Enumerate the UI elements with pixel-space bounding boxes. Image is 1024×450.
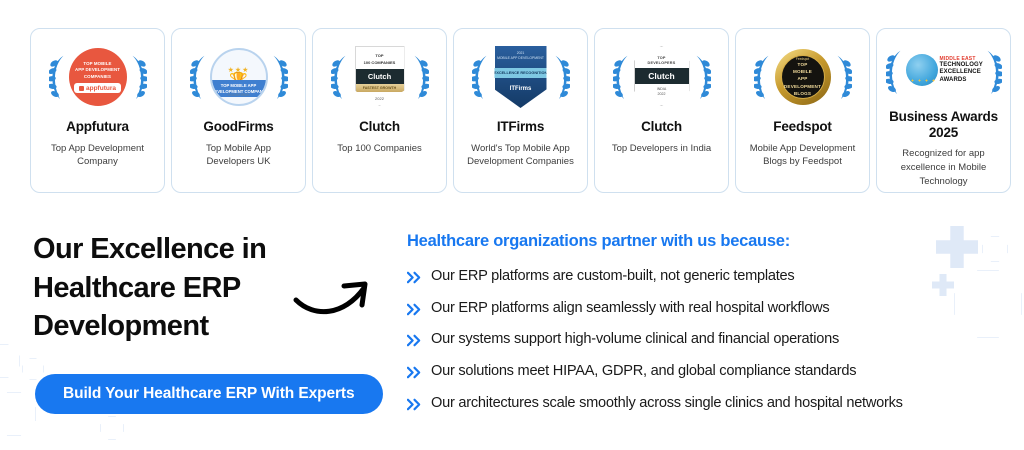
benefits-heading: Healthcare organizations partner with us…	[407, 232, 1007, 251]
badge-wordmark: GOODFIRMS	[227, 93, 249, 97]
badge-title: Feedspot	[773, 119, 831, 135]
laurel-right-icon	[130, 53, 147, 101]
badge-description: Recognized for app excellence in Mobile …	[885, 147, 1002, 188]
laurel-left-icon	[331, 53, 348, 101]
badge-logo: TOP DEVELOPERS Clutch INDIA 2022	[603, 41, 720, 113]
badge-wordmark: appfutura	[74, 83, 121, 93]
badge-logo-line: 100 COMPANIES	[364, 60, 396, 65]
double-chevron-right-icon	[407, 397, 422, 412]
appfutura-badge-art: TOP MOBILE APP DEVELOPMENT COMPANIES app…	[67, 46, 129, 108]
plus-icon	[0, 392, 36, 436]
cta-button[interactable]: Build Your Healthcare ERP With Experts	[35, 374, 383, 414]
badge-wordmark: ITFirms	[510, 86, 532, 92]
laurel-right-icon	[553, 53, 570, 101]
badge-logo: TOP MOBILE APP DEVELOPMENT COMPANIES app…	[39, 41, 156, 113]
badge-logo: 2021 MOBILE APP DEVELOPMENT EXCELLENCE R…	[462, 41, 579, 113]
badge-description: World's Top Mobile App Development Compa…	[462, 142, 579, 170]
badge-logo-line: TECHNOLOGY	[940, 62, 983, 70]
badge-title: Clutch	[359, 119, 400, 135]
laurel-right-icon	[835, 53, 852, 101]
laurel-right-icon	[412, 53, 429, 101]
badge-card[interactable]: TOP MOBILE APP DEVELOPMENT COMPANIES app…	[30, 28, 165, 193]
badge-title: Business Awards 2025	[885, 109, 1002, 140]
badge-logo-line: 2021 MOBILE APP DEVELOPMENT	[497, 51, 544, 61]
list-item: Our solutions meet HIPAA, GDPR, and glob…	[407, 362, 1007, 380]
double-chevron-right-icon	[407, 333, 422, 348]
page-title: Our Excellence in Healthcare ERP Develop…	[33, 230, 266, 346]
list-item-label: Our ERP platforms align seamlessly with …	[431, 299, 829, 317]
badge-logo-line: TOP	[375, 53, 383, 58]
laurel-right-icon	[694, 53, 711, 101]
badge-logo-line: TOP	[798, 61, 808, 68]
list-item: Our ERP platforms align seamlessly with …	[407, 299, 1007, 317]
badge-logo-line: BLOGS	[794, 90, 811, 97]
badge-description: Top Mobile App Developers UK	[180, 142, 297, 170]
badge-description: Mobile App Development Blogs by Feedspot	[744, 142, 861, 170]
benefits-list: Our ERP platforms are custom-built, not …	[407, 267, 1007, 412]
badge-logo: Feedspot TOP MOBILE APP DEVELOPMENT BLOG…	[744, 41, 861, 113]
headline-line: Our Excellence in	[33, 230, 266, 269]
badge-wordmark: Clutch	[356, 69, 404, 84]
badge-logo-line: APP DEVELOPMENT	[75, 67, 120, 74]
badge-title: ITFirms	[497, 119, 544, 135]
laurel-right-icon	[271, 53, 288, 101]
double-chevron-right-icon	[407, 365, 422, 380]
list-item-label: Our systems support high-volume clinical…	[431, 330, 839, 348]
promo-banner: TOP MOBILE APP DEVELOPMENT COMPANIES app…	[0, 0, 1024, 450]
double-chevron-right-icon	[407, 270, 422, 285]
laurel-right-icon	[985, 48, 1002, 96]
laurel-left-icon	[49, 53, 66, 101]
badge-card[interactable]: 2021 MOBILE APP DEVELOPMENT EXCELLENCE R…	[453, 28, 588, 193]
badge-ribbon: EXCELLENCE RECOGNITION	[487, 68, 555, 78]
list-item: Our ERP platforms are custom-built, not …	[407, 267, 1007, 285]
badge-card[interactable]: TOP 100 COMPANIES Clutch FASTEST GROWTH …	[312, 28, 447, 193]
list-item: Our systems support high-volume clinical…	[407, 330, 1007, 348]
badge-logo: TOP 100 COMPANIES Clutch FASTEST GROWTH …	[321, 41, 438, 113]
middle-east-awards-art: MIDDLE EAST TECHNOLOGY EXCELLENCE AWARDS	[904, 41, 984, 103]
badge-logo-line: AWARDS	[940, 77, 983, 85]
badge-card[interactable]: TOP DEVELOPERS Clutch INDIA 2022 Clutch …	[594, 28, 729, 193]
laurel-left-icon	[472, 53, 489, 101]
badge-ribbon: FASTEST GROWTH	[356, 84, 404, 92]
badge-title: GoodFirms	[203, 119, 273, 135]
laurel-left-icon	[613, 53, 630, 101]
badge-description: Top App Development Company	[39, 142, 156, 170]
list-item-label: Our solutions meet HIPAA, GDPR, and glob…	[431, 362, 856, 380]
badge-card[interactable]: MIDDLE EAST TECHNOLOGY EXCELLENCE AWARDS…	[876, 28, 1011, 193]
itfirms-badge-art: 2021 MOBILE APP DEVELOPMENT EXCELLENCE R…	[490, 46, 552, 108]
plus-icon	[22, 358, 44, 380]
list-item-label: Our ERP platforms are custom-built, not …	[431, 267, 794, 285]
headline-line: Development	[33, 307, 266, 346]
feedspot-badge-art: Feedspot TOP MOBILE APP DEVELOPMENT BLOG…	[772, 46, 834, 108]
clutch-india-badge-art: TOP DEVELOPERS Clutch INDIA 2022	[631, 46, 693, 108]
benefits-section: Healthcare organizations partner with us…	[407, 232, 1007, 426]
badge-title: Clutch	[641, 119, 682, 135]
badge-logo-line: COMPANIES	[84, 74, 111, 81]
badge-year: 2022	[658, 92, 666, 96]
badge-logo-line: TOP	[657, 56, 665, 60]
badge-wordmark: Clutch	[635, 68, 689, 84]
list-item-label: Our architectures scale smoothly across …	[431, 394, 903, 412]
double-chevron-right-icon	[407, 302, 422, 317]
clutch-badge-art: TOP 100 COMPANIES Clutch FASTEST GROWTH …	[349, 46, 411, 108]
badge-logo-line: APP	[797, 75, 807, 82]
badge-year: 2022	[375, 96, 384, 101]
plus-icon	[0, 344, 20, 378]
curved-arrow-icon	[292, 274, 376, 324]
badge-description: Top Developers in India	[610, 142, 713, 156]
badge-logo-line: TOP MOBILE	[83, 61, 111, 68]
badge-logo: MIDDLE EAST TECHNOLOGY EXCELLENCE AWARDS	[885, 41, 1002, 103]
badge-logo-line: DEVELOPERS	[648, 61, 676, 65]
goodfirms-badge-art: ★★★ 🏆 TOP MOBILE APP DEVELOPMENT COMPANY…	[208, 46, 270, 108]
badge-logo-line: EXCELLENCE	[940, 69, 983, 77]
list-item: Our architectures scale smoothly across …	[407, 394, 1007, 412]
badge-logo-line: DEVELOPMENT	[784, 83, 821, 90]
badge-title: Appfutura	[66, 119, 129, 135]
laurel-left-icon	[886, 48, 903, 96]
plus-icon	[100, 416, 124, 440]
badge-region: INDIA	[657, 87, 667, 91]
globe-icon	[906, 54, 938, 86]
headline-line: Healthcare ERP	[33, 269, 266, 308]
awards-badge-strip: TOP MOBILE APP DEVELOPMENT COMPANIES app…	[30, 28, 1011, 193]
badge-description: Top 100 Companies	[335, 142, 424, 156]
badge-card[interactable]: ★★★ 🏆 TOP MOBILE APP DEVELOPMENT COMPANY…	[171, 28, 306, 193]
badge-logo: ★★★ 🏆 TOP MOBILE APP DEVELOPMENT COMPANY…	[180, 41, 297, 113]
badge-card[interactable]: Feedspot TOP MOBILE APP DEVELOPMENT BLOG…	[735, 28, 870, 193]
badge-logo-line: MOBILE	[793, 68, 812, 75]
laurel-left-icon	[190, 53, 207, 101]
laurel-left-icon	[754, 53, 771, 101]
